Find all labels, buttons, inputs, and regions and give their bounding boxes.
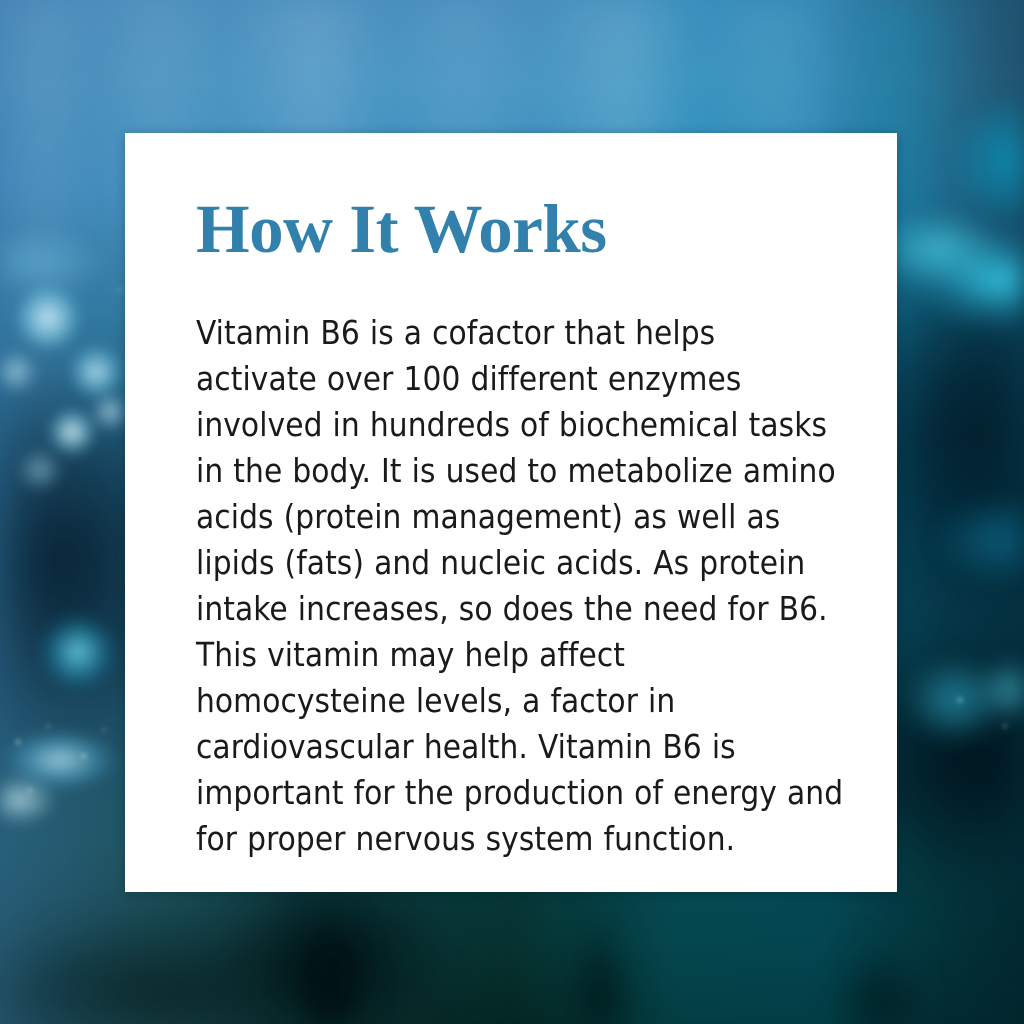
page-title: How It Works <box>196 195 846 264</box>
infographic-card-slide: How It Works Vitamin B6 is a cofactor th… <box>0 0 1024 1024</box>
white-content-card: How It Works Vitamin B6 is a cofactor th… <box>125 133 897 892</box>
body-paragraph: Vitamin B6 is a cofactor that helps acti… <box>196 264 844 862</box>
card-content-wrapper: How It Works Vitamin B6 is a cofactor th… <box>196 195 846 862</box>
